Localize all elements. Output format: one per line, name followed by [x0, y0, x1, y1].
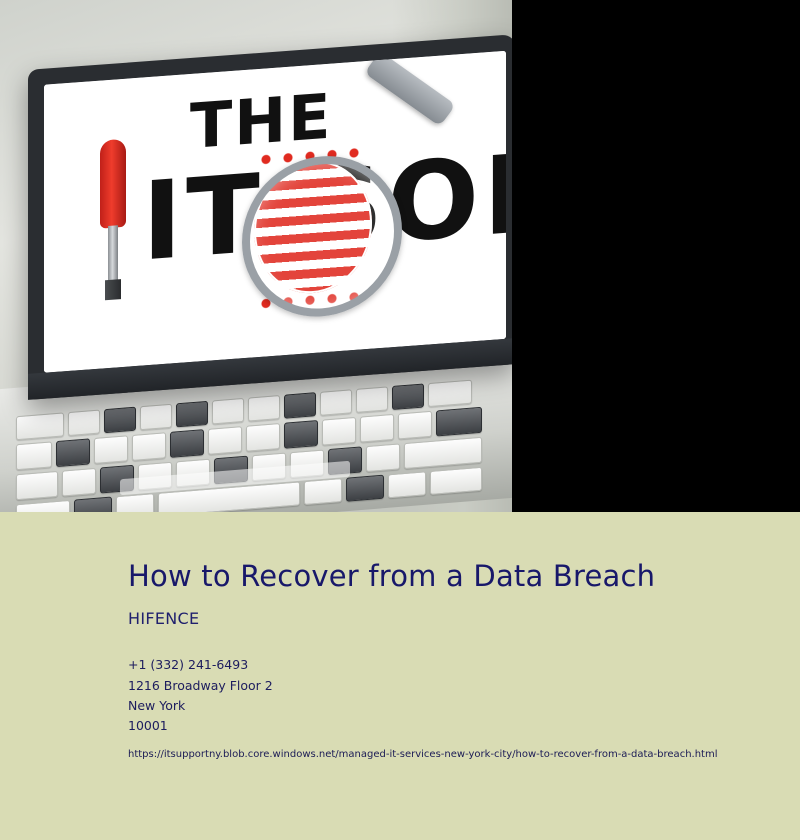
- contact-city: New York: [128, 696, 760, 716]
- laptop-screen: THE IT SOLVIT: [28, 34, 512, 400]
- screen-artwork: THE IT SOLVIT: [44, 51, 506, 373]
- brand-name: HIFENCE: [128, 609, 760, 628]
- source-url: https://itsupportny.blob.core.windows.ne…: [128, 749, 760, 760]
- hero-photo: THE IT SOLVIT: [0, 0, 512, 512]
- screwdriver-icon: [100, 139, 126, 301]
- page-title: How to Recover from a Data Breach: [128, 560, 760, 593]
- hero-letterbox-right: [512, 0, 800, 512]
- info-panel-content: How to Recover from a Data Breach HIFENC…: [128, 560, 760, 760]
- hero-banner: THE IT SOLVIT: [0, 0, 800, 512]
- contact-block: +1 (332) 241-6493 1216 Broadway Floor 2 …: [128, 655, 760, 736]
- contact-address-line1: 1216 Broadway Floor 2: [128, 676, 760, 696]
- contact-zip: 10001: [128, 716, 760, 736]
- magnifier-handle-icon: [364, 51, 456, 126]
- laptop-display: THE IT SOLVIT: [44, 51, 506, 373]
- contact-phone: +1 (332) 241-6493: [128, 655, 760, 675]
- info-panel: How to Recover from a Data Breach HIFENC…: [0, 512, 800, 840]
- page-root: THE IT SOLVIT: [0, 0, 800, 840]
